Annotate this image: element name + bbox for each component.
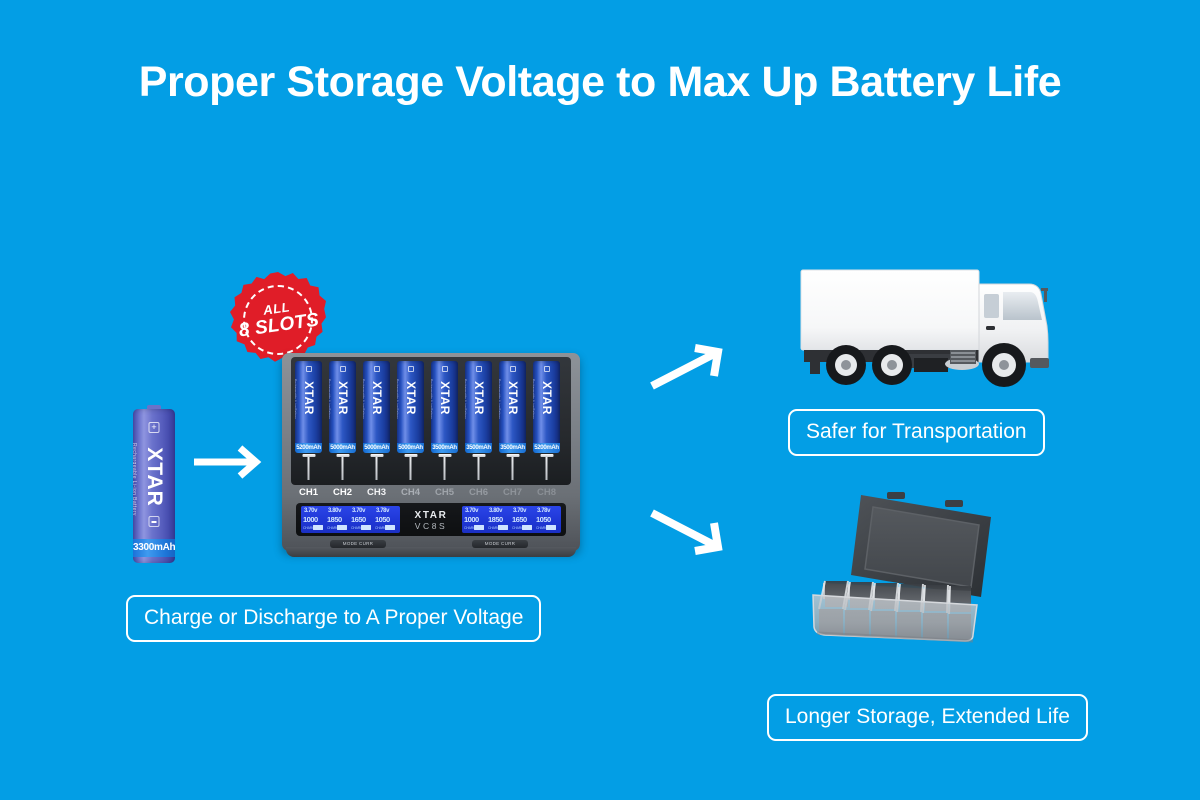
lcd-value: 1050 bbox=[375, 515, 390, 524]
single-battery-illustration: + Rechargeable Li-ion Battery XTAR 3300m… bbox=[133, 405, 175, 563]
arrow-right-icon bbox=[192, 440, 276, 489]
channel-label-ch4: CH4 bbox=[396, 487, 425, 498]
slot-battery-brand: XTAR bbox=[540, 370, 554, 426]
lcd-battery-icon bbox=[474, 525, 484, 530]
charger-slot: Rechargeable Li-ion Battery XTAR 3500mAh bbox=[464, 357, 493, 485]
channel-label-ch5: CH5 bbox=[430, 487, 459, 498]
lcd-channel-readout: 3.70v 1650 CHARGE bbox=[511, 508, 534, 531]
slot-battery-capacity: 5000mAh bbox=[363, 443, 390, 454]
lcd-channel-readout: 3.80v 1850 CHARGE bbox=[487, 508, 510, 531]
battery-body: + Rechargeable Li-ion Battery XTAR 3300m… bbox=[133, 409, 175, 563]
slot-spring-contact bbox=[302, 454, 315, 480]
battery-side-text: Rechargeable Li-ion Battery bbox=[133, 443, 137, 529]
lcd-value: 1850 bbox=[488, 515, 503, 524]
lcd-voltage: 3.80v bbox=[489, 508, 502, 514]
slot-battery-side-text: Rechargeable Li-ion Battery bbox=[295, 379, 297, 437]
slot-battery: Rechargeable Li-ion Battery XTAR 5200mAh bbox=[533, 361, 560, 453]
battery-minus-icon bbox=[149, 516, 160, 527]
arrow-up-right-icon bbox=[648, 338, 736, 401]
lcd-value: 1000 bbox=[303, 515, 318, 524]
slot-battery-capacity: 3500mAh bbox=[465, 443, 492, 454]
slot-battery-side-text: Rechargeable Li-ion Battery bbox=[431, 379, 433, 437]
slot-battery-side-text: Rechargeable Li-ion Battery bbox=[533, 379, 535, 437]
lcd-channel-readout: 3.70v 1650 CHARGE bbox=[350, 508, 373, 531]
slot-spring-contact bbox=[404, 454, 417, 480]
charger-brand-plate: XTAR VC8S bbox=[415, 510, 448, 531]
xtar-vc8s-charger-illustration: Rechargeable Li-ion Battery XTAR 5200mAh… bbox=[282, 345, 580, 555]
charger-base bbox=[286, 547, 576, 557]
caption-longer-storage: Longer Storage, Extended Life bbox=[767, 694, 1088, 741]
slot-battery-capacity: 5000mAh bbox=[397, 443, 424, 454]
slot-battery-side-text: Rechargeable Li-ion Battery bbox=[329, 379, 331, 437]
charger-mode-current-button-left[interactable]: MODE CURR bbox=[330, 540, 386, 548]
slot-battery-side-text: Rechargeable Li-ion Battery bbox=[465, 379, 467, 437]
lcd-battery-icon bbox=[385, 525, 395, 530]
lcd-battery-icon bbox=[522, 525, 532, 530]
lcd-value: 1000 bbox=[464, 515, 479, 524]
lcd-screen-left: 3.70v 1000 CHARGE 3.80v 1850 CHARGE 3.70… bbox=[301, 506, 400, 533]
charger-channel-labels: CH1 CH2 CH3 CH4 CH5 CH6 CH7 CH8 bbox=[291, 487, 571, 503]
charger-brand-name: XTAR bbox=[415, 510, 448, 522]
compartment-storage-box-illustration bbox=[795, 483, 1003, 658]
slot-battery: Rechargeable Li-ion Battery XTAR 5000mAh bbox=[329, 361, 356, 453]
slot-battery-capacity: 5000mAh bbox=[329, 443, 356, 454]
slot-battery: Rechargeable Li-ion Battery XTAR 5200mAh bbox=[295, 361, 322, 453]
arrow-down-right-icon bbox=[648, 503, 736, 566]
slot-battery: Rechargeable Li-ion Battery XTAR 3500mAh bbox=[465, 361, 492, 453]
lcd-battery-icon bbox=[546, 525, 556, 530]
charger-slot: Rechargeable Li-ion Battery XTAR 3500mAh bbox=[498, 357, 527, 485]
slot-battery-capacity: 3500mAh bbox=[499, 443, 526, 454]
battery-brand-label: XTAR bbox=[142, 432, 166, 522]
page-title: Proper Storage Voltage to Max Up Battery… bbox=[0, 58, 1200, 107]
lcd-voltage: 3.78v bbox=[376, 508, 389, 514]
channel-label-ch3: CH3 bbox=[362, 487, 391, 498]
slot-battery-side-text: Rechargeable Li-ion Battery bbox=[397, 379, 399, 437]
caption-safer-transportation: Safer for Transportation bbox=[788, 409, 1045, 456]
battery-capacity-label: 3300mAh bbox=[133, 539, 175, 557]
slot-spring-contact bbox=[540, 454, 553, 480]
infographic-canvas: Proper Storage Voltage to Max Up Battery… bbox=[0, 0, 1200, 800]
slot-spring-contact bbox=[336, 454, 349, 480]
lcd-battery-icon bbox=[313, 525, 323, 530]
charger-battery-bay: Rechargeable Li-ion Battery XTAR 5200mAh… bbox=[291, 357, 571, 485]
charger-mode-current-button-right[interactable]: MODE CURR bbox=[472, 540, 528, 548]
delivery-truck-illustration bbox=[798, 262, 1050, 403]
lcd-battery-icon bbox=[498, 525, 508, 530]
slot-spring-contact bbox=[472, 454, 485, 480]
slot-battery-brand: XTAR bbox=[472, 370, 486, 426]
charger-slot: Rechargeable Li-ion Battery XTAR 5000mAh bbox=[362, 357, 391, 485]
slot-battery-capacity: 3500mAh bbox=[431, 443, 458, 454]
charger-lcd-panel: 3.70v 1000 CHARGE 3.80v 1850 CHARGE 3.70… bbox=[296, 503, 566, 536]
slot-battery-brand: XTAR bbox=[506, 370, 520, 426]
lcd-channel-readout: 3.78v 1050 CHARGE bbox=[535, 508, 558, 531]
slot-battery-capacity: 5200mAh bbox=[533, 443, 560, 454]
lcd-value: 1650 bbox=[512, 515, 527, 524]
charger-slot: Rechargeable Li-ion Battery XTAR 3500mAh bbox=[430, 357, 459, 485]
slot-battery-brand: XTAR bbox=[438, 370, 452, 426]
charger-slot: Rechargeable Li-ion Battery XTAR 5000mAh bbox=[396, 357, 425, 485]
slot-battery-capacity: 5200mAh bbox=[295, 443, 322, 454]
channel-label-ch6: CH6 bbox=[464, 487, 493, 498]
slot-spring-contact bbox=[438, 454, 451, 480]
lcd-voltage: 3.70v bbox=[465, 508, 478, 514]
channel-label-ch1: CH1 bbox=[294, 487, 323, 498]
slot-battery-brand: XTAR bbox=[336, 370, 350, 426]
lcd-battery-icon bbox=[337, 525, 347, 530]
lcd-battery-icon bbox=[361, 525, 371, 530]
lcd-value: 1850 bbox=[327, 515, 342, 524]
caption-charge-discharge: Charge or Discharge to A Proper Voltage bbox=[126, 595, 541, 642]
slot-battery: Rechargeable Li-ion Battery XTAR 5000mAh bbox=[397, 361, 424, 453]
slot-battery-side-text: Rechargeable Li-ion Battery bbox=[499, 379, 501, 437]
lcd-voltage: 3.78v bbox=[537, 508, 550, 514]
lcd-voltage: 3.80v bbox=[328, 508, 341, 514]
lcd-channel-readout: 3.70v 1000 CHARGE bbox=[302, 508, 325, 531]
slot-battery-brand: XTAR bbox=[302, 370, 316, 426]
lcd-value: 1650 bbox=[351, 515, 366, 524]
lcd-channel-readout: 3.70v 1000 CHARGE bbox=[463, 508, 486, 531]
charger-slot: Rechargeable Li-ion Battery XTAR 5200mAh bbox=[294, 357, 323, 485]
lcd-channel-readout: 3.80v 1850 CHARGE bbox=[326, 508, 349, 531]
lcd-voltage: 3.70v bbox=[513, 508, 526, 514]
slot-battery-brand: XTAR bbox=[404, 370, 418, 426]
slot-spring-contact bbox=[506, 454, 519, 480]
slot-battery: Rechargeable Li-ion Battery XTAR 5000mAh bbox=[363, 361, 390, 453]
channel-label-ch2: CH2 bbox=[328, 487, 357, 498]
slot-battery: Rechargeable Li-ion Battery XTAR 3500mAh bbox=[431, 361, 458, 453]
lcd-voltage: 3.70v bbox=[304, 508, 317, 514]
slot-battery-brand: XTAR bbox=[370, 370, 384, 426]
charger-slot: Rechargeable Li-ion Battery XTAR 5000mAh bbox=[328, 357, 357, 485]
slot-spring-contact bbox=[370, 454, 383, 480]
lcd-voltage: 3.70v bbox=[352, 508, 365, 514]
channel-label-ch8: CH8 bbox=[532, 487, 561, 498]
charger-slot: Rechargeable Li-ion Battery XTAR 5200mAh bbox=[532, 357, 561, 485]
lcd-channel-readout: 3.78v 1050 CHARGE bbox=[374, 508, 397, 531]
charger-model-name: VC8S bbox=[415, 522, 448, 532]
lcd-screen-right: 3.70v 1000 CHARGE 3.80v 1850 CHARGE 3.70… bbox=[462, 506, 561, 533]
slot-battery: Rechargeable Li-ion Battery XTAR 3500mAh bbox=[499, 361, 526, 453]
lcd-value: 1050 bbox=[536, 515, 551, 524]
channel-label-ch7: CH7 bbox=[498, 487, 527, 498]
slot-battery-side-text: Rechargeable Li-ion Battery bbox=[363, 379, 365, 437]
